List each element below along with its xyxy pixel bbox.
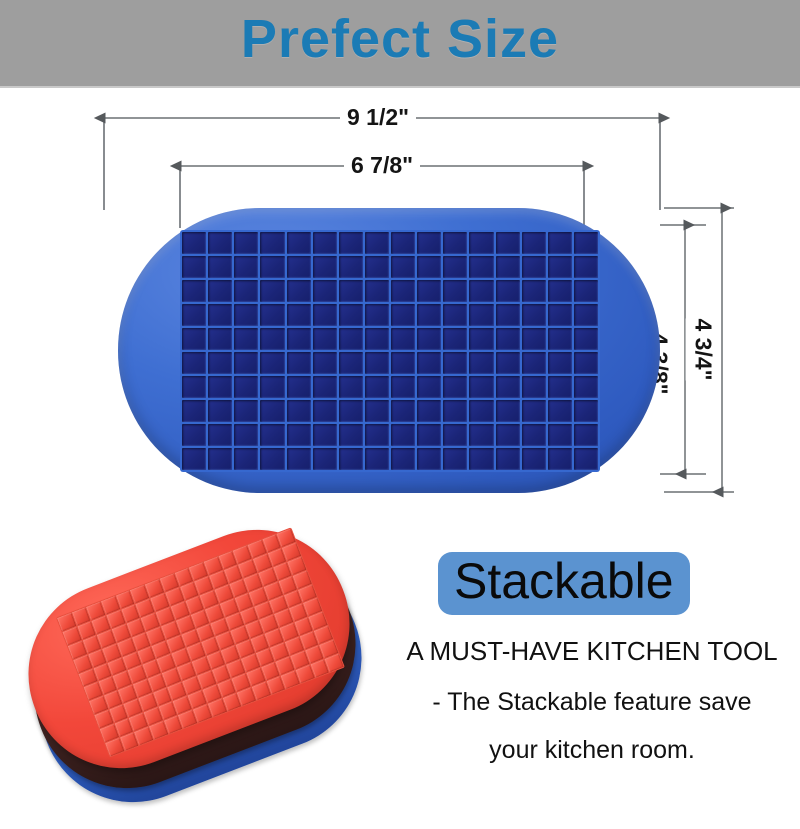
ice-cube-cavity bbox=[339, 232, 363, 254]
ice-cube-cavity bbox=[548, 232, 572, 254]
ice-cube-cavity bbox=[522, 424, 546, 446]
ice-cube-cavity bbox=[260, 352, 284, 374]
ice-cube-cavity bbox=[260, 256, 284, 278]
ice-cube-cavity bbox=[417, 280, 441, 302]
ice-cube-cavity bbox=[496, 376, 520, 398]
ice-cube-cavity-grid bbox=[180, 230, 600, 472]
ice-cube-cavity bbox=[260, 400, 284, 422]
ice-cube-cavity bbox=[522, 376, 546, 398]
ice-cube-cavity bbox=[522, 232, 546, 254]
ice-cube-cavity bbox=[365, 448, 389, 470]
ice-cube-cavity bbox=[496, 448, 520, 470]
ice-cube-cavity bbox=[469, 232, 493, 254]
ice-cube-cavity bbox=[260, 280, 284, 302]
ice-cube-cavity bbox=[234, 352, 258, 374]
ice-cube-cavity bbox=[496, 400, 520, 422]
description-line-1: - The Stackable feature save bbox=[388, 688, 796, 717]
ice-cube-cavity bbox=[417, 376, 441, 398]
ice-cube-cavity bbox=[313, 376, 337, 398]
ice-cube-cavity bbox=[339, 376, 363, 398]
ice-cube-cavity bbox=[469, 256, 493, 278]
ice-cube-cavity bbox=[574, 352, 598, 374]
ice-cube-cavity bbox=[339, 328, 363, 350]
ice-cube-cavity bbox=[260, 304, 284, 326]
ice-cube-cavity bbox=[365, 376, 389, 398]
ice-cube-cavity bbox=[496, 352, 520, 374]
ice-cube-cavity bbox=[548, 280, 572, 302]
ice-cube-cavity bbox=[313, 352, 337, 374]
ice-cube-cavity bbox=[365, 352, 389, 374]
ice-cube-cavity bbox=[234, 304, 258, 326]
ice-cube-cavity bbox=[313, 424, 337, 446]
ice-cube-cavity bbox=[313, 448, 337, 470]
ice-cube-cavity bbox=[365, 256, 389, 278]
ice-cube-cavity bbox=[365, 280, 389, 302]
ice-cube-cavity bbox=[234, 400, 258, 422]
ice-cube-cavity bbox=[208, 280, 232, 302]
ice-cube-cavity bbox=[574, 328, 598, 350]
ice-cube-cavity bbox=[574, 280, 598, 302]
ice-cube-cavity bbox=[182, 352, 206, 374]
ice-cube-cavity bbox=[391, 256, 415, 278]
ice-cube-cavity bbox=[469, 304, 493, 326]
ice-cube-cavity bbox=[443, 400, 467, 422]
ice-cube-cavity bbox=[522, 352, 546, 374]
ice-cube-cavity bbox=[417, 352, 441, 374]
ice-cube-cavity bbox=[234, 328, 258, 350]
ice-cube-cavity bbox=[287, 448, 311, 470]
ice-cube-cavity bbox=[522, 304, 546, 326]
dimension-label-outer-width: 9 1/2" bbox=[340, 104, 416, 131]
ice-cube-cavity bbox=[469, 376, 493, 398]
ice-cube-cavity bbox=[496, 328, 520, 350]
ice-cube-cavity bbox=[391, 280, 415, 302]
ice-cube-cavity bbox=[574, 424, 598, 446]
ice-cube-cavity bbox=[365, 328, 389, 350]
ice-cube-cavity bbox=[182, 304, 206, 326]
ice-cube-cavity bbox=[339, 424, 363, 446]
ice-cube-cavity bbox=[391, 304, 415, 326]
ice-cube-cavity bbox=[313, 280, 337, 302]
ice-cube-cavity bbox=[548, 352, 572, 374]
ice-cube-cavity bbox=[208, 424, 232, 446]
description-line-2: your kitchen room. bbox=[388, 736, 796, 765]
ice-cube-cavity bbox=[260, 376, 284, 398]
ice-cube-cavity bbox=[182, 256, 206, 278]
ice-cube-cavity bbox=[496, 256, 520, 278]
ice-cube-cavity bbox=[417, 448, 441, 470]
ice-cube-cavity bbox=[391, 400, 415, 422]
ice-cube-cavity bbox=[313, 256, 337, 278]
ice-cube-cavity bbox=[548, 256, 572, 278]
ice-cube-cavity bbox=[339, 400, 363, 422]
stacked-ice-cube-trays bbox=[8, 516, 398, 792]
ice-cube-cavity bbox=[443, 376, 467, 398]
ice-cube-cavity bbox=[365, 400, 389, 422]
ice-cube-cavity bbox=[522, 400, 546, 422]
ice-cube-cavity bbox=[574, 400, 598, 422]
ice-cube-cavity bbox=[574, 376, 598, 398]
ice-cube-cavity bbox=[469, 448, 493, 470]
ice-cube-cavity bbox=[365, 424, 389, 446]
ice-cube-cavity bbox=[208, 256, 232, 278]
ice-cube-cavity bbox=[287, 280, 311, 302]
ice-cube-cavity bbox=[287, 400, 311, 422]
ice-cube-cavity bbox=[287, 424, 311, 446]
ice-cube-cavity bbox=[287, 304, 311, 326]
ice-cube-cavity bbox=[260, 424, 284, 446]
ice-cube-cavity bbox=[234, 232, 258, 254]
ice-cube-cavity bbox=[522, 280, 546, 302]
ice-cube-cavity bbox=[548, 448, 572, 470]
tagline-text: A MUST-HAVE KITCHEN TOOL bbox=[388, 636, 796, 667]
ice-cube-cavity bbox=[182, 424, 206, 446]
ice-cube-cavity bbox=[260, 448, 284, 470]
ice-cube-cavity bbox=[548, 376, 572, 398]
ice-cube-cavity bbox=[574, 448, 598, 470]
ice-cube-cavity bbox=[287, 256, 311, 278]
ice-cube-cavity bbox=[182, 376, 206, 398]
ice-cube-cavity bbox=[469, 424, 493, 446]
ice-cube-cavity bbox=[260, 232, 284, 254]
ice-cube-cavity bbox=[339, 280, 363, 302]
ice-cube-cavity bbox=[443, 232, 467, 254]
page-title: Prefect Size bbox=[0, 8, 800, 70]
ice-cube-cavity bbox=[208, 304, 232, 326]
ice-cube-cavity bbox=[208, 232, 232, 254]
ice-cube-cavity bbox=[391, 328, 415, 350]
ice-cube-cavity bbox=[574, 304, 598, 326]
blue-ice-cube-tray bbox=[118, 208, 660, 493]
ice-cube-cavity bbox=[182, 328, 206, 350]
ice-cube-cavity bbox=[548, 400, 572, 422]
ice-cube-cavity bbox=[365, 304, 389, 326]
ice-cube-cavity bbox=[182, 400, 206, 422]
ice-cube-cavity bbox=[469, 328, 493, 350]
ice-cube-cavity bbox=[417, 256, 441, 278]
ice-cube-cavity bbox=[234, 448, 258, 470]
dimension-label-outer-height: 4 3/4" bbox=[686, 318, 721, 380]
ice-cube-cavity bbox=[339, 304, 363, 326]
header-banner: Prefect Size bbox=[0, 0, 800, 88]
ice-cube-cavity bbox=[234, 424, 258, 446]
ice-cube-cavity bbox=[417, 304, 441, 326]
ice-cube-cavity bbox=[182, 448, 206, 470]
ice-cube-cavity bbox=[208, 376, 232, 398]
ice-cube-cavity bbox=[496, 280, 520, 302]
ice-cube-cavity bbox=[313, 328, 337, 350]
ice-cube-cavity bbox=[287, 352, 311, 374]
ice-cube-cavity bbox=[208, 328, 232, 350]
ice-cube-cavity bbox=[443, 280, 467, 302]
ice-cube-cavity bbox=[287, 232, 311, 254]
ice-cube-cavity bbox=[182, 232, 206, 254]
ice-cube-cavity bbox=[548, 424, 572, 446]
ice-cube-cavity bbox=[522, 448, 546, 470]
stackable-badge: Stackable bbox=[438, 552, 690, 615]
ice-cube-cavity bbox=[496, 424, 520, 446]
ice-cube-cavity bbox=[287, 376, 311, 398]
ice-cube-cavity bbox=[522, 328, 546, 350]
ice-cube-cavity bbox=[234, 376, 258, 398]
ice-cube-cavity bbox=[443, 424, 467, 446]
ice-cube-cavity bbox=[522, 256, 546, 278]
ice-cube-cavity bbox=[548, 304, 572, 326]
ice-cube-cavity bbox=[496, 304, 520, 326]
ice-cube-cavity bbox=[339, 352, 363, 374]
ice-cube-cavity bbox=[443, 328, 467, 350]
ice-cube-cavity bbox=[365, 232, 389, 254]
ice-cube-cavity bbox=[339, 448, 363, 470]
ice-cube-cavity bbox=[417, 400, 441, 422]
ice-cube-cavity bbox=[469, 352, 493, 374]
ice-cube-cavity bbox=[208, 448, 232, 470]
ice-cube-cavity bbox=[417, 232, 441, 254]
ice-cube-cavity bbox=[443, 304, 467, 326]
ice-cube-cavity bbox=[234, 256, 258, 278]
ice-cube-cavity bbox=[313, 304, 337, 326]
ice-cube-cavity bbox=[574, 256, 598, 278]
ice-cube-cavity bbox=[260, 328, 284, 350]
ice-cube-cavity bbox=[496, 232, 520, 254]
ice-cube-cavity bbox=[313, 400, 337, 422]
ice-cube-cavity bbox=[391, 232, 415, 254]
ice-cube-cavity bbox=[417, 424, 441, 446]
ice-cube-cavity bbox=[443, 448, 467, 470]
ice-cube-cavity bbox=[417, 328, 441, 350]
ice-cube-cavity bbox=[548, 328, 572, 350]
ice-cube-cavity bbox=[391, 376, 415, 398]
ice-cube-cavity bbox=[469, 400, 493, 422]
ice-cube-cavity bbox=[443, 352, 467, 374]
ice-cube-cavity bbox=[469, 280, 493, 302]
ice-cube-cavity bbox=[234, 280, 258, 302]
ice-cube-cavity bbox=[443, 256, 467, 278]
ice-cube-cavity bbox=[391, 424, 415, 446]
ice-cube-cavity bbox=[391, 352, 415, 374]
ice-cube-cavity bbox=[391, 448, 415, 470]
ice-cube-cavity bbox=[313, 232, 337, 254]
ice-cube-cavity bbox=[574, 232, 598, 254]
ice-cube-cavity bbox=[339, 256, 363, 278]
ice-cube-cavity bbox=[287, 328, 311, 350]
dimension-label-inner-width: 6 7/8" bbox=[344, 152, 420, 179]
ice-cube-cavity bbox=[208, 400, 232, 422]
ice-cube-cavity bbox=[182, 280, 206, 302]
ice-cube-cavity bbox=[208, 352, 232, 374]
